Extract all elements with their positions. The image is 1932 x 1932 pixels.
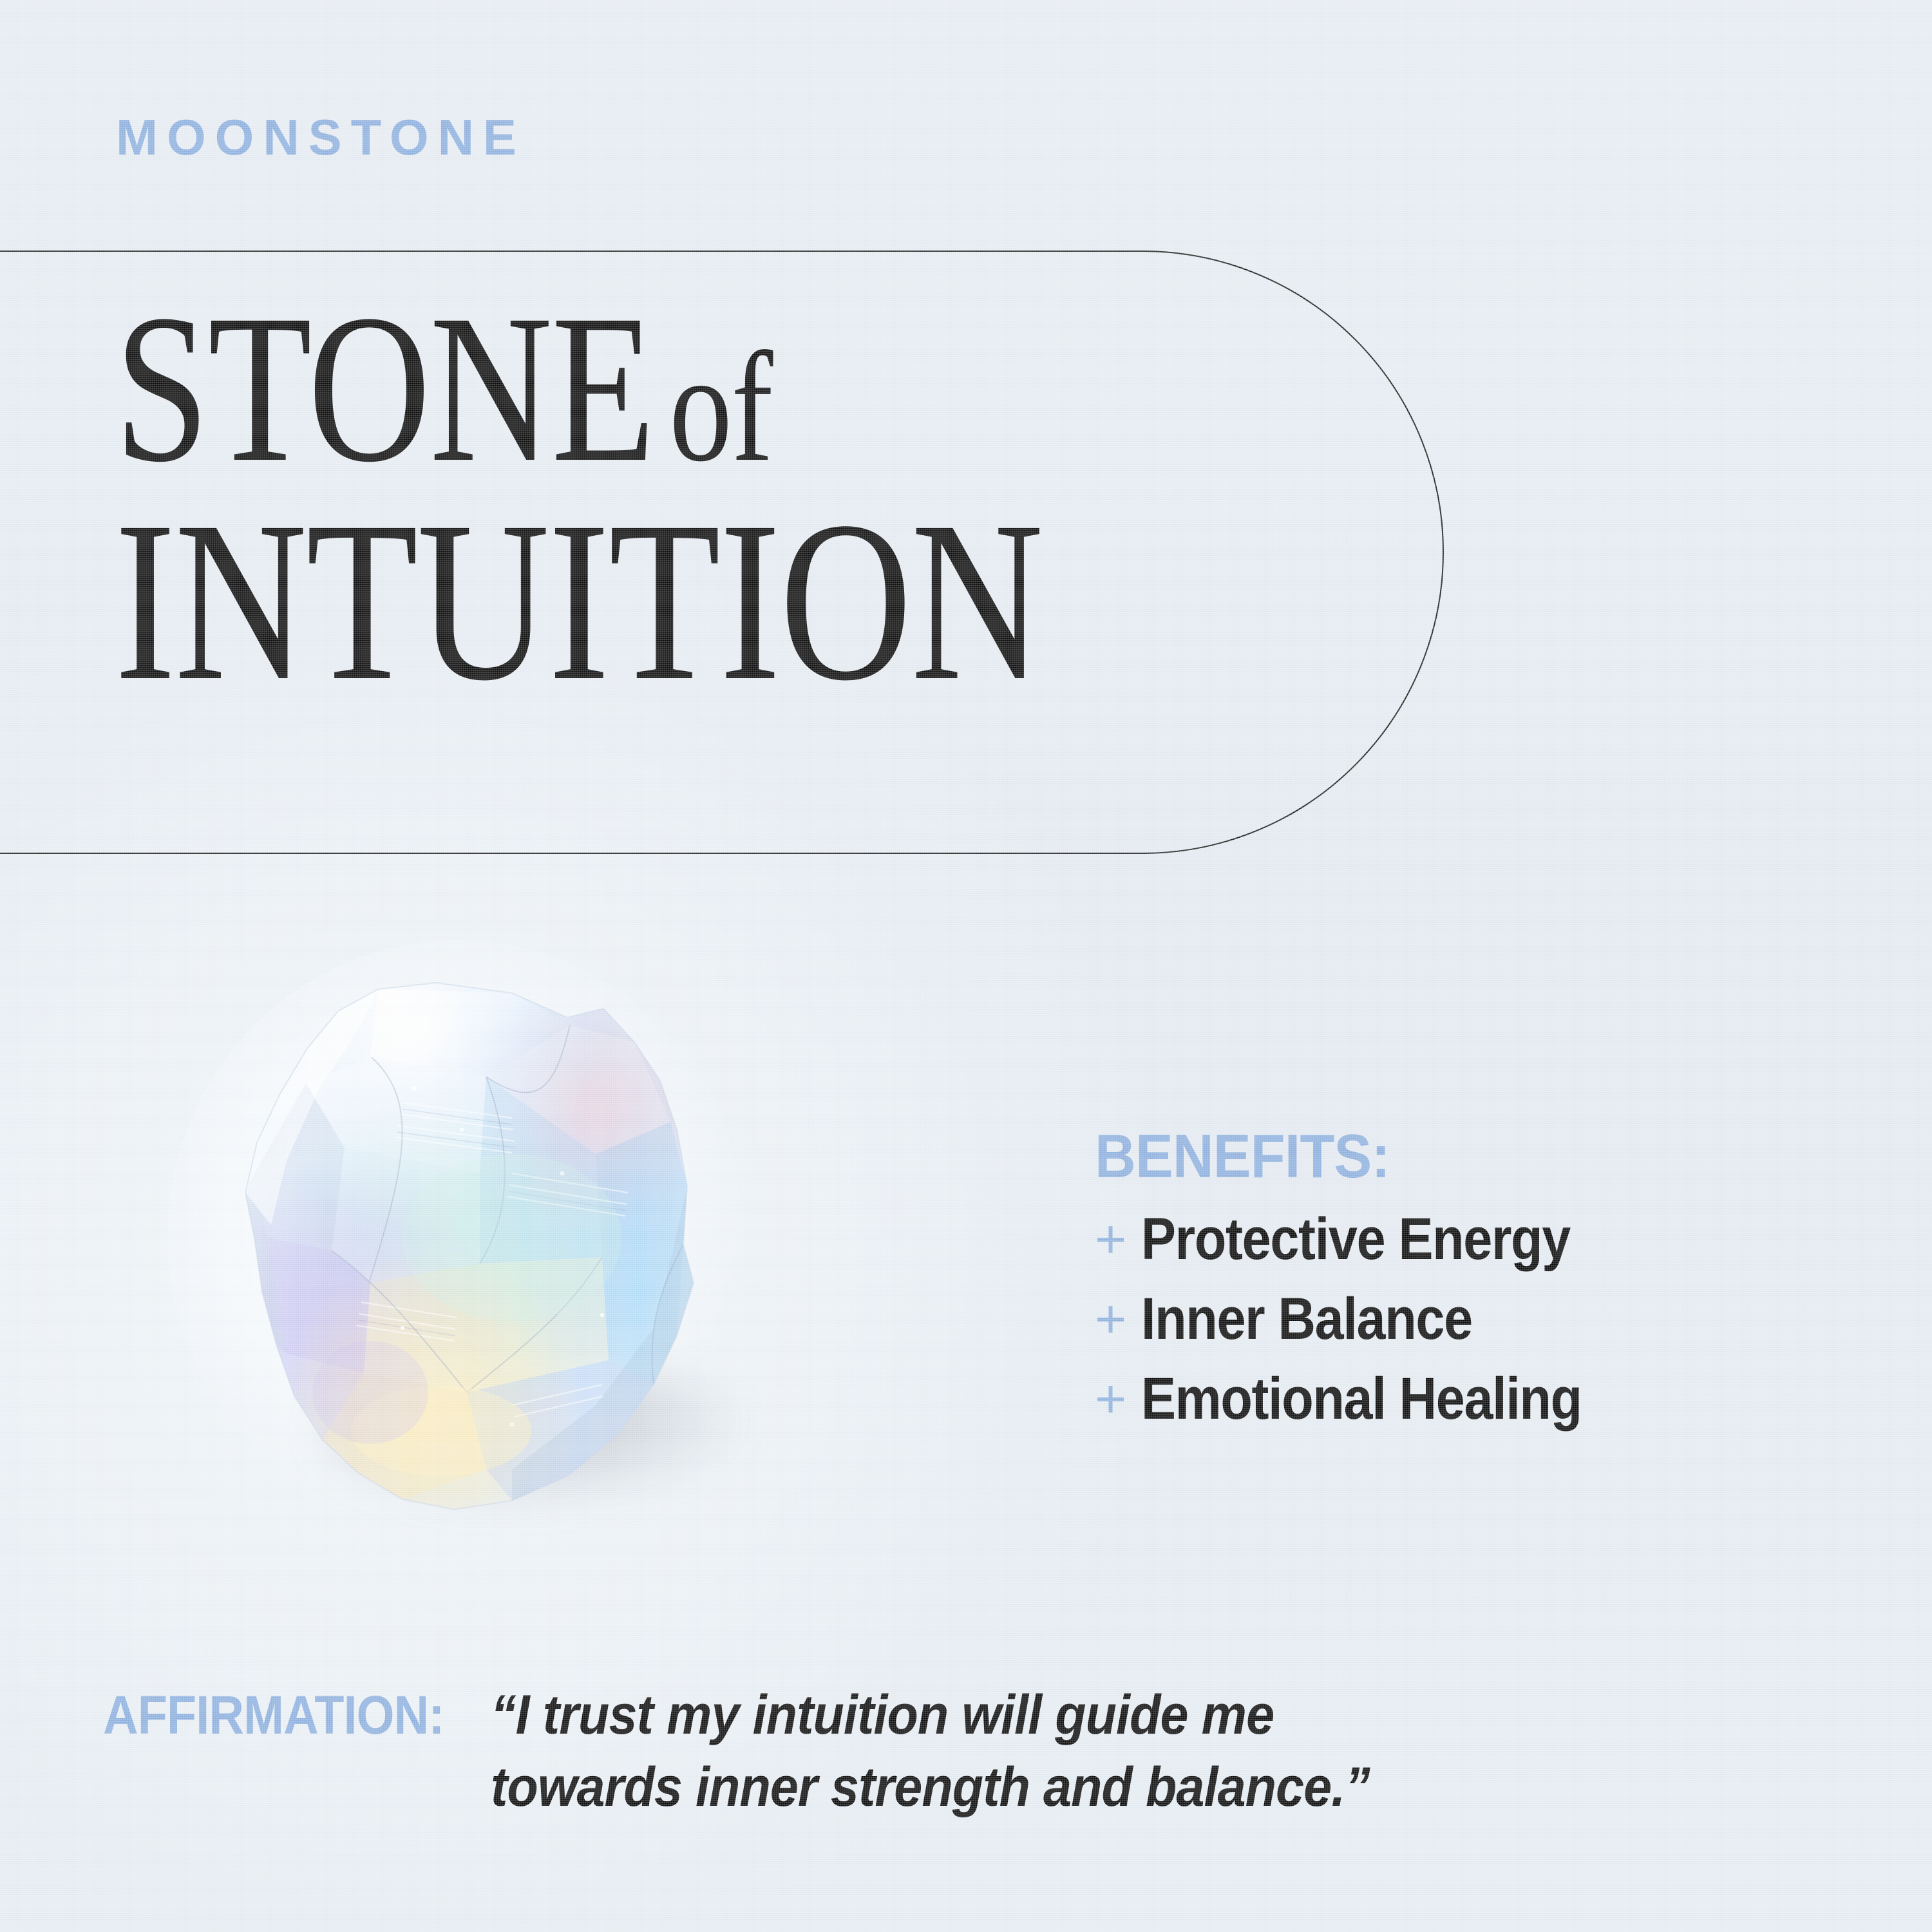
crystal-stage bbox=[193, 960, 811, 1578]
poster-canvas: MOONSTONE STONEof INTUITION bbox=[0, 0, 1932, 1932]
benefit-label: Emotional Healing bbox=[1141, 1369, 1582, 1430]
hero-title-word-stone: STONE bbox=[115, 271, 654, 506]
plus-icon: + bbox=[1095, 1372, 1141, 1426]
moonstone-crystal-image bbox=[209, 980, 718, 1515]
benefit-label: Inner Balance bbox=[1141, 1289, 1472, 1350]
benefit-item: + Inner Balance bbox=[1095, 1289, 1835, 1350]
affirmation-section: AFFIRMATION: “I trust my intuition will … bbox=[103, 1680, 1842, 1824]
benefit-item: + Protective Energy bbox=[1095, 1209, 1835, 1270]
affirmation-quote-line-1: “I trust my intuition will guide me bbox=[491, 1680, 1394, 1752]
hero-title-word-of: of bbox=[654, 319, 772, 494]
affirmation-quote-line-2: towards inner strength and balance.” bbox=[491, 1752, 1394, 1824]
benefits-heading: BENEFITS: bbox=[1095, 1126, 1776, 1188]
benefit-label: Protective Energy bbox=[1141, 1209, 1570, 1270]
hero-title: STONEof INTUITION bbox=[115, 293, 1403, 705]
plus-icon: + bbox=[1095, 1212, 1141, 1266]
stone-name-kicker: MOONSTONE bbox=[116, 108, 526, 167]
benefits-section: BENEFITS: + Protective Energy + Inner Ba… bbox=[1095, 1126, 1835, 1448]
plus-icon: + bbox=[1095, 1292, 1141, 1346]
benefit-item: + Emotional Healing bbox=[1095, 1369, 1835, 1430]
affirmation-label: AFFIRMATION: bbox=[103, 1680, 444, 1745]
hero-title-line-2: INTUITION bbox=[115, 498, 1145, 705]
hero-title-line-1: STONEof bbox=[115, 293, 1145, 484]
affirmation-quote: “I trust my intuition will guide me towa… bbox=[491, 1680, 1394, 1824]
